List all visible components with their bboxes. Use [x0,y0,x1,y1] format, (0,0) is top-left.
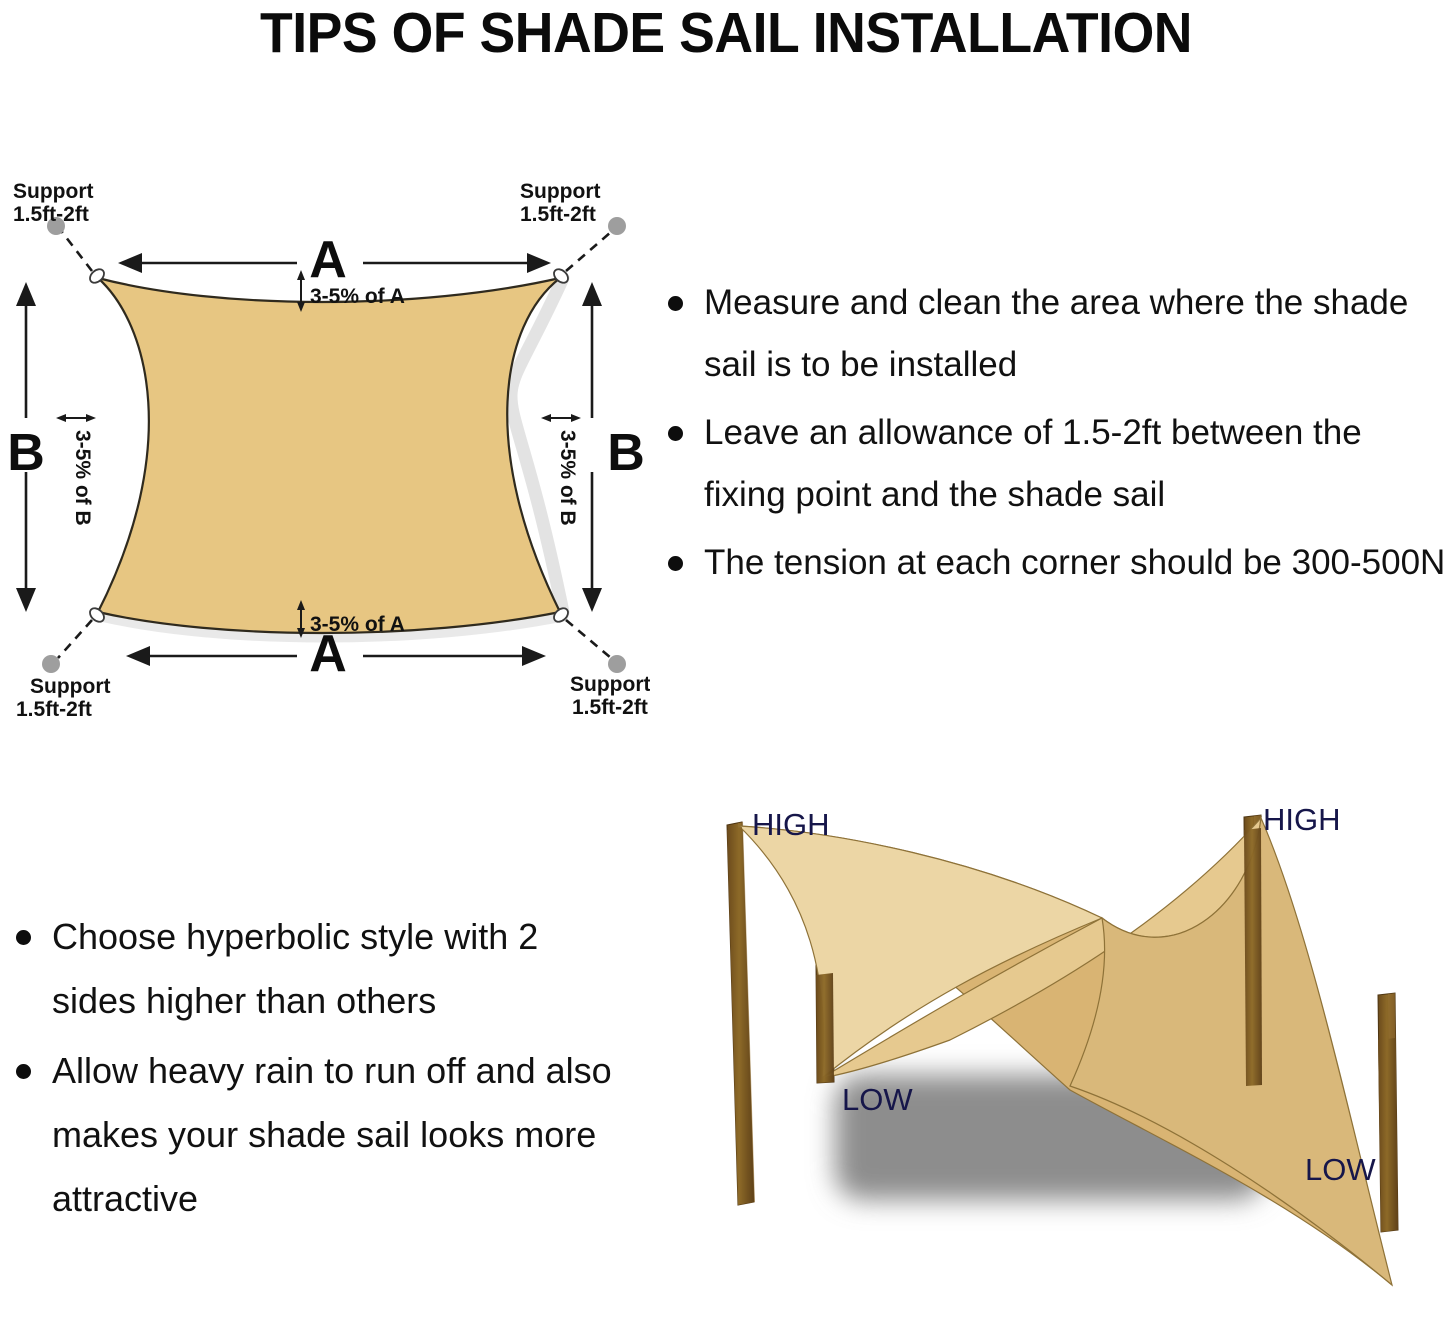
bullet-dot-icon [16,1064,31,1079]
dimension-label-top-A: A [309,231,347,289]
arrowhead-right-B-up [582,282,602,306]
dimension-label-right-B: B [607,424,645,482]
list-item-text: Allow heavy rain to run off and also mak… [52,1050,612,1219]
arrowhead-left-B-up [16,282,36,306]
curve-depth-label-top: 3-5% of A [310,285,405,308]
arrowhead-bottom-A-left [126,646,150,666]
dimension-label-left-B: B [7,424,45,482]
arrowhead-right-B-down [582,588,602,612]
support-dot-bottom-left [42,655,60,673]
list-item: The tension at each corner should be 300… [652,532,1452,594]
support-top-left-line2: 1.5ft-2ft [13,203,89,226]
list-item: Leave an allowance of 1.5-2ft between th… [652,402,1452,526]
support-top-right-line2: 1.5ft-2ft [520,203,596,226]
curve-depth-label-left: 3-5% of B [71,430,94,526]
label-low-right: LOW [1305,1152,1376,1187]
arrowhead-curve-top-up [297,270,305,280]
hyperbolic-sail-diagram: HIGH HIGH LOW LOW [650,790,1452,1325]
support-bottom-left-line2: 1.5ft-2ft [16,698,92,721]
arrowhead-curve-right-in [571,414,581,422]
list-item-text: Measure and clean the area where the sha… [704,283,1408,384]
installation-tips-list-bottom: Choose hyperbolic style with 2 sides hig… [0,905,630,1237]
support-bottom-right-line2: 1.5ft-2ft [572,696,648,719]
support-bottom-left-line1: Support [30,675,110,698]
bullet-dot-icon [16,930,31,945]
bullet-dot-icon [668,426,683,441]
arrowhead-bottom-A-right [522,646,546,666]
curve-depth-label-bottom: 3-5% of A [310,613,405,636]
list-item-text: Choose hyperbolic style with 2 sides hig… [52,916,538,1021]
page-title: TIPS OF SHADE SAIL INSTALLATION [44,2,1409,64]
list-item-text: Leave an allowance of 1.5-2ft between th… [704,413,1362,514]
label-low-left: LOW [842,1082,913,1117]
installation-tips-list-top: Measure and clean the area where the sha… [652,272,1452,600]
arrowhead-curve-right-out [541,414,551,422]
arrowhead-curve-left-in [86,414,96,422]
support-bottom-right-line1: Support [570,673,650,696]
curve-depth-label-right: 3-5% of B [556,430,579,526]
arrowhead-top-A-left [118,253,142,273]
bullet-dot-icon [668,556,683,571]
label-high-right: HIGH [1263,802,1341,837]
bullet-dot-icon [668,296,683,311]
list-item-text: The tension at each corner should be 300… [704,543,1445,582]
support-top-left-line1: Support [13,180,93,203]
support-dot-top-right [608,217,626,235]
arrowhead-left-B-down [16,588,36,612]
list-item: Measure and clean the area where the sha… [652,272,1452,396]
rect-sail-diagram: Support 1.5ft-2ft Support 1.5ft-2ft Supp… [0,160,650,750]
support-top-right-line1: Support [520,180,600,203]
list-item: Choose hyperbolic style with 2 sides hig… [0,905,630,1033]
support-dot-bottom-right [608,655,626,673]
label-high-left: HIGH [752,807,830,842]
sail-fabric [98,278,560,633]
list-item: Allow heavy rain to run off and also mak… [0,1039,630,1231]
arrowhead-curve-left-out [56,414,66,422]
arrowhead-top-A-right [527,253,551,273]
